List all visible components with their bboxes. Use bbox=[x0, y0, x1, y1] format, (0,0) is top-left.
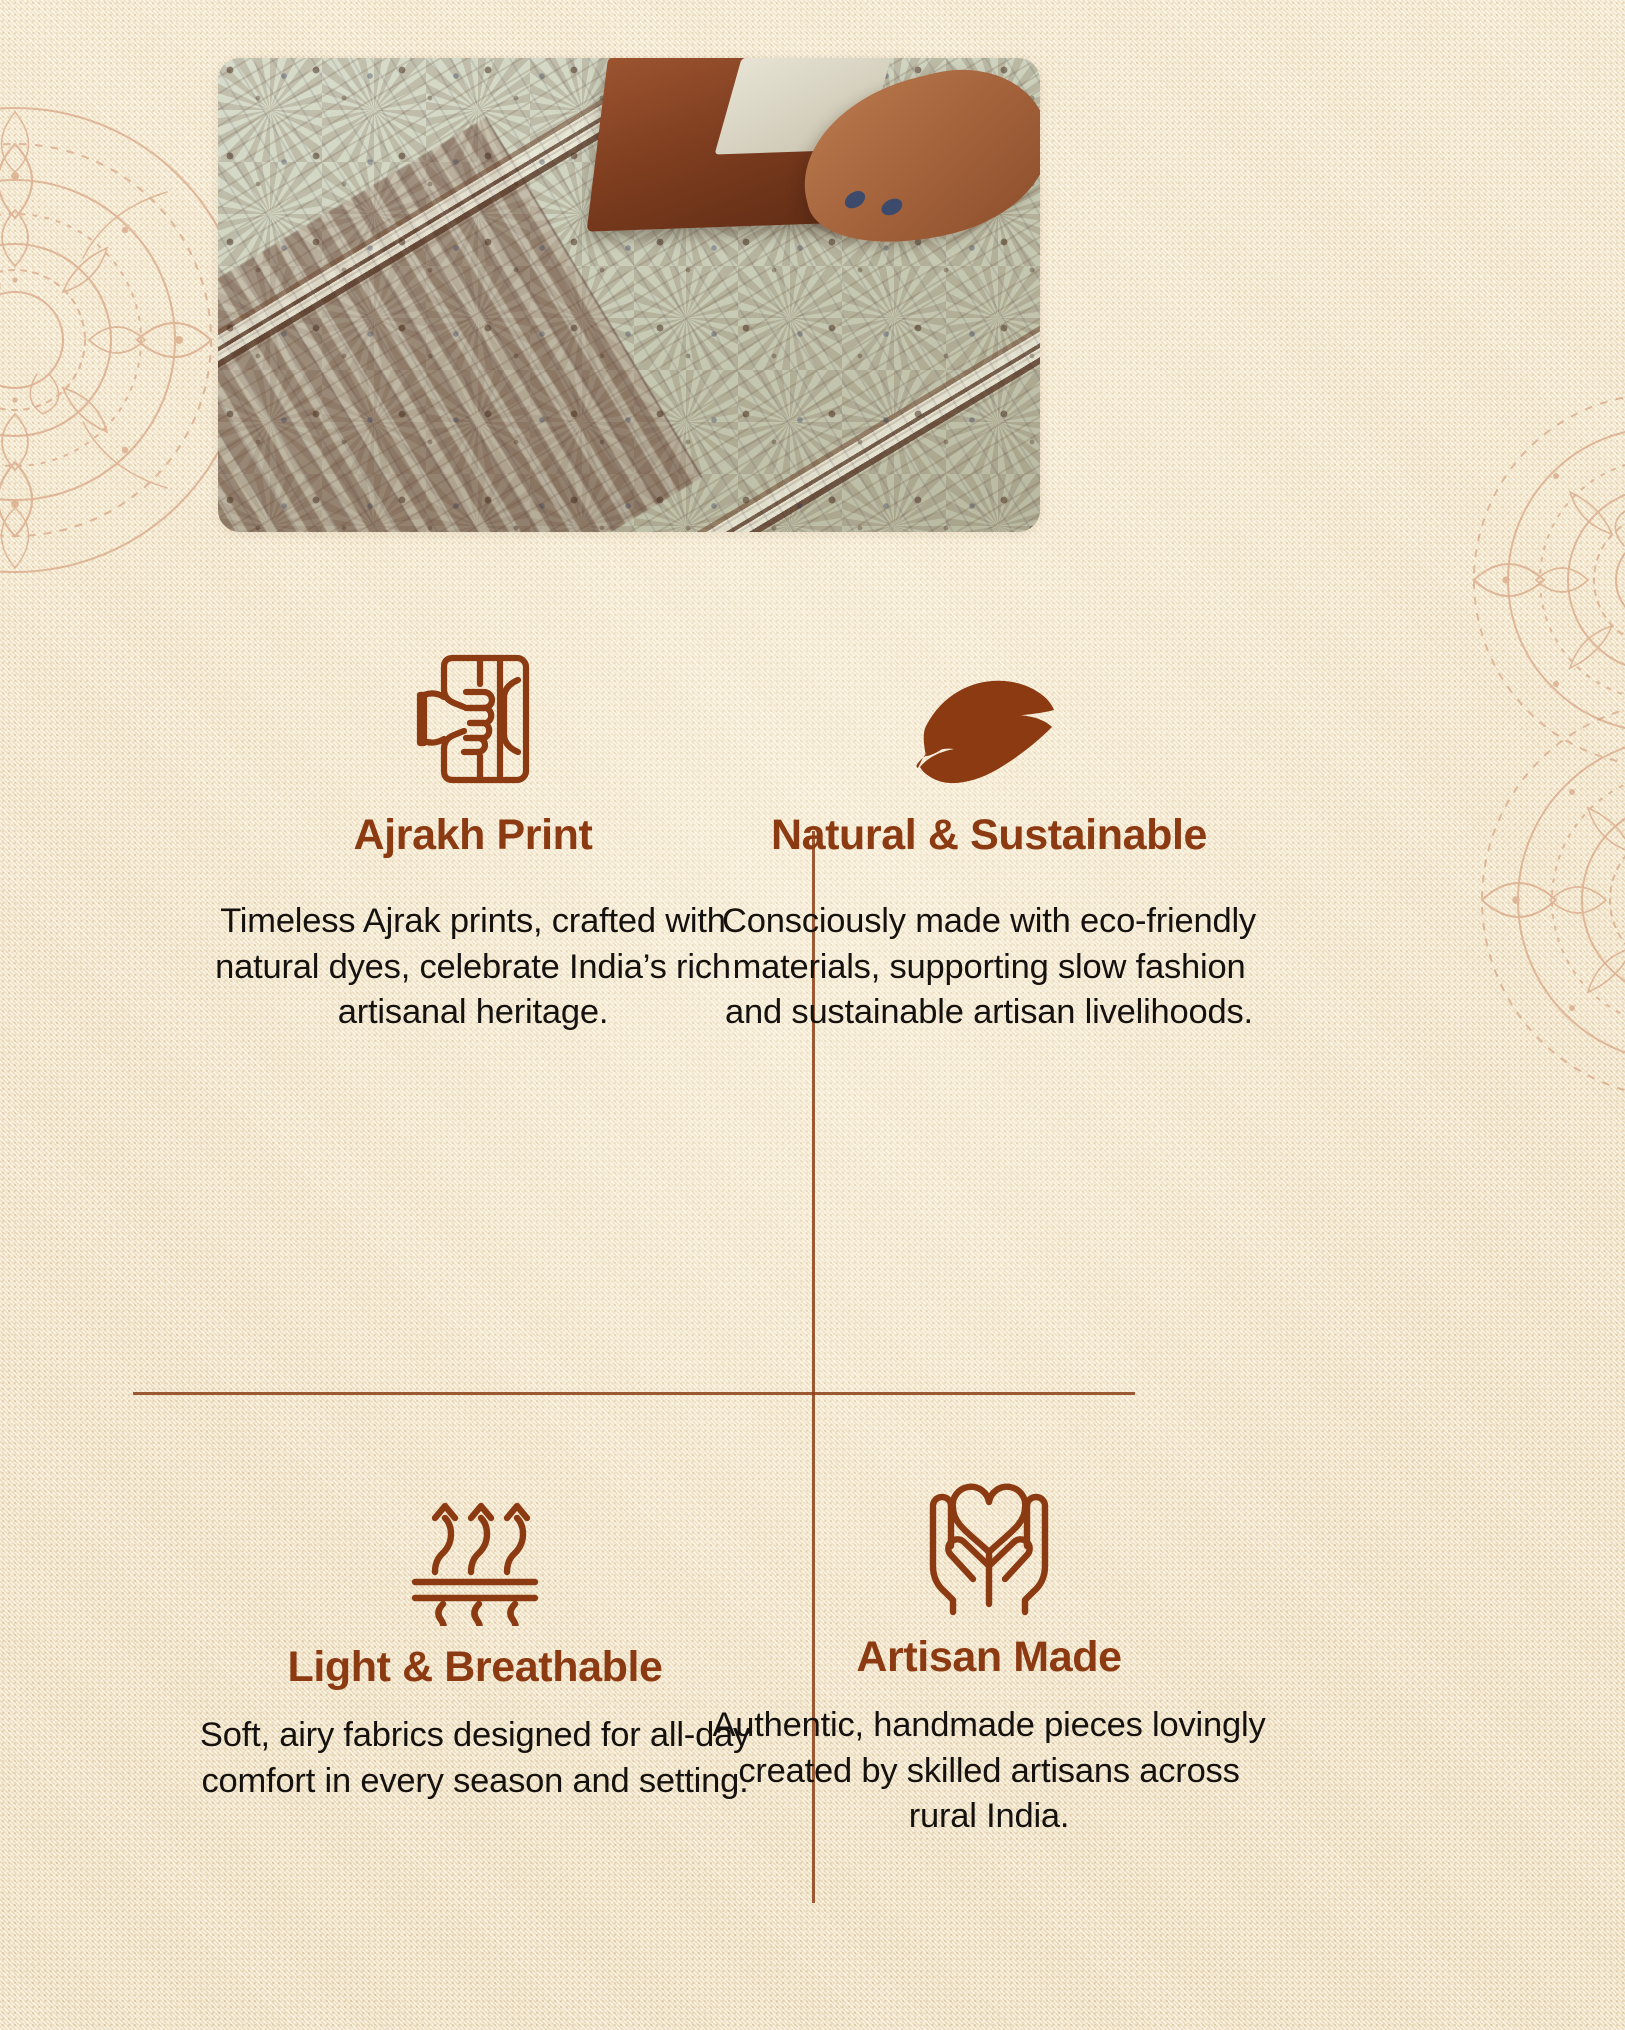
feature-body: Timeless Ajrak prints, crafted with natu… bbox=[193, 899, 753, 1036]
feature-body: Soft, airy fabrics designed for all-day … bbox=[195, 1713, 755, 1804]
feature-title: Artisan Made bbox=[689, 1634, 1289, 1681]
hero-image-block-printing bbox=[218, 58, 1040, 532]
feature-body: Authentic, handmade pieces lovingly crea… bbox=[709, 1703, 1269, 1840]
fingernail bbox=[842, 187, 869, 211]
feature-card-artisan-made: Artisan Made Authentic, handmade pieces … bbox=[689, 1466, 1289, 1840]
feature-body: Consciously made with eco-friendly mater… bbox=[709, 899, 1269, 1036]
feature-card-natural-sustainable: Natural & Sustainable Consciously made w… bbox=[689, 636, 1289, 1036]
features-grid: Ajrakh Print Timeless Ajrak prints, craf… bbox=[133, 626, 1135, 1876]
mandala-decoration-right-lower bbox=[1420, 640, 1625, 1160]
poster-canvas: Ajrakh Print Timeless Ajrak prints, craf… bbox=[0, 0, 1625, 2030]
feature-title: Natural & Sustainable bbox=[689, 812, 1289, 859]
leaf-icon bbox=[689, 636, 1289, 786]
fingernail bbox=[879, 195, 905, 218]
mandala-decoration-left bbox=[0, 60, 245, 620]
horizontal-divider bbox=[133, 1392, 1135, 1395]
hands-holding-heart-icon bbox=[689, 1466, 1289, 1616]
